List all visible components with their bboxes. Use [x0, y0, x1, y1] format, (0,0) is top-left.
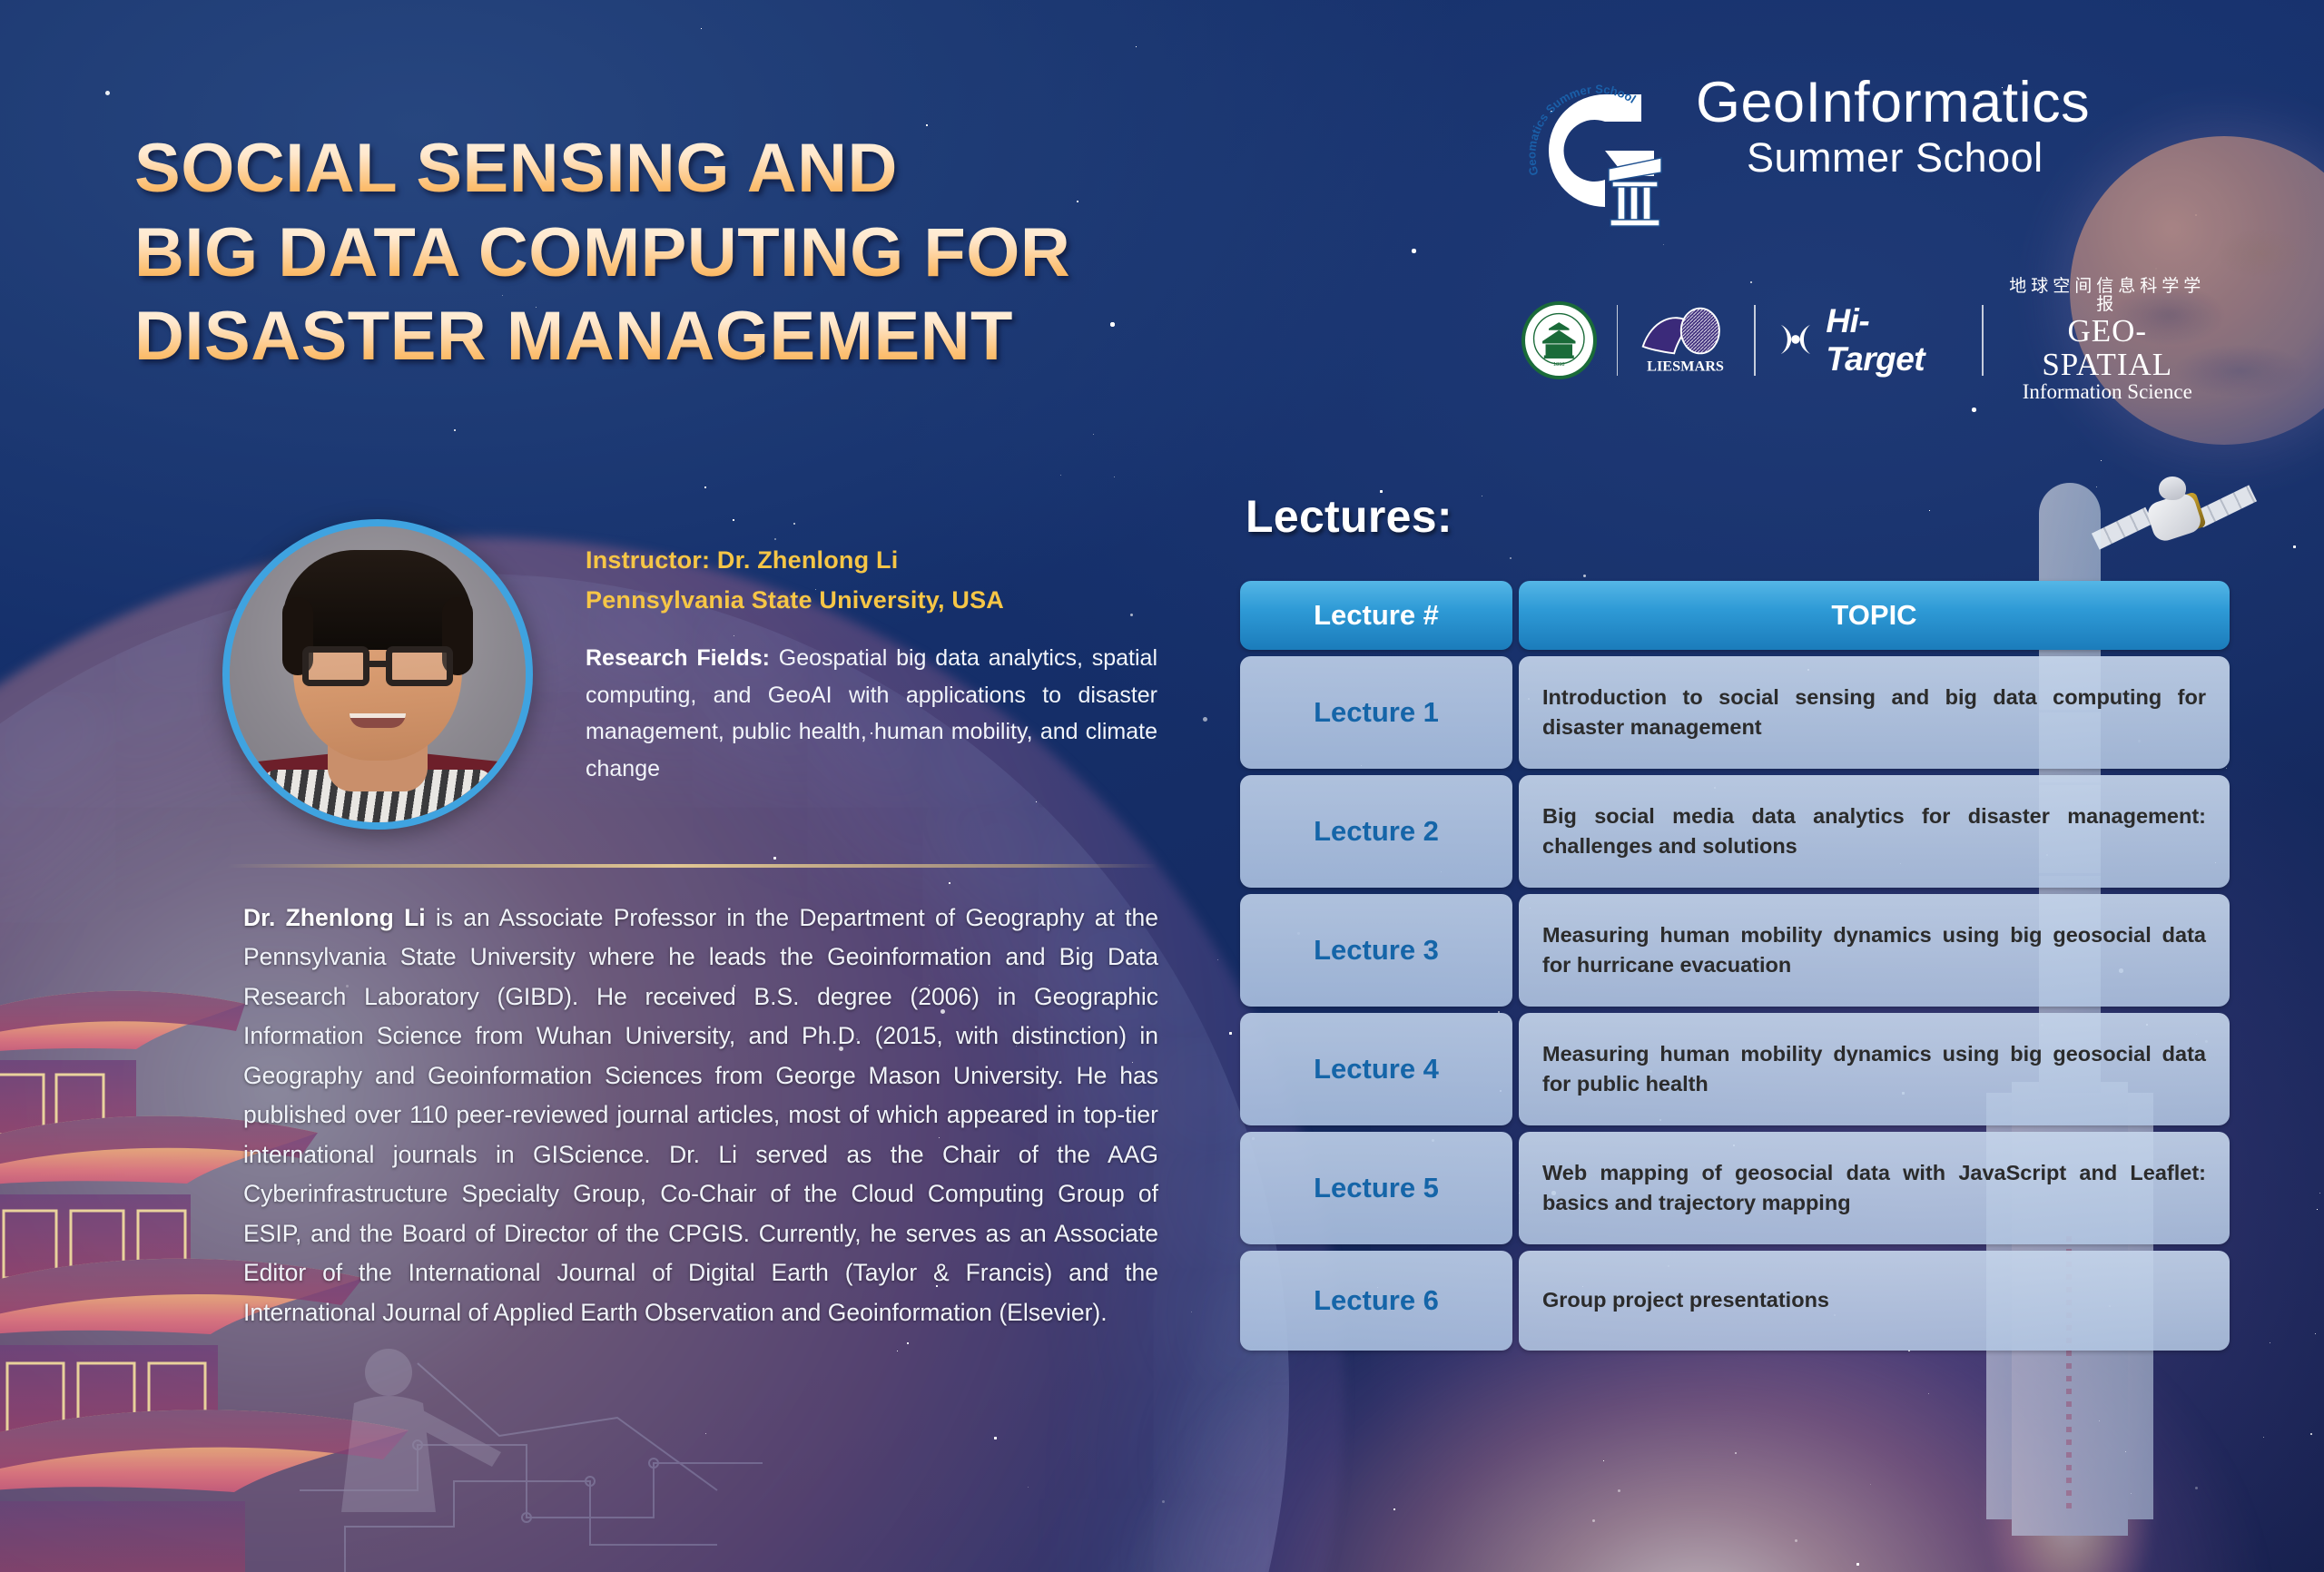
svg-text:1893: 1893 [1553, 362, 1565, 368]
instructor-name: Instructor: Dr. Zhenlong Li [586, 541, 1157, 581]
hi-target-logo: Hi-Target [1776, 302, 1962, 378]
sponsor-divider [1754, 305, 1756, 376]
lecture-number-cell: Lecture 6 [1240, 1251, 1512, 1351]
table-row[interactable]: Lecture 5 Web mapping of geosocial data … [1240, 1132, 2230, 1244]
lecture-topic-cell: Measuring human mobility dynamics using … [1519, 1013, 2230, 1125]
lecture-topic-cell: Big social media data analytics for disa… [1519, 775, 2230, 888]
hi-target-label: Hi-Target [1826, 302, 1961, 378]
research-fields: Research Fields: Geospatial big data ana… [586, 640, 1157, 787]
poster-title: SOCIAL SENSING AND BIG DATA COMPUTING FO… [134, 127, 1460, 379]
sponsor-divider [1617, 305, 1619, 376]
table-row[interactable]: Lecture 1 Introduction to social sensing… [1240, 656, 2230, 769]
gsis-label-line2: Information Science [2004, 381, 2211, 403]
instructor-info: Instructor: Dr. Zhenlong Li Pennsylvania… [586, 541, 1157, 787]
brand-name-line1: GeoInformatics [1696, 73, 2090, 133]
lecture-topic-cell: Web mapping of geosocial data with JavaS… [1519, 1132, 2230, 1244]
gsis-chinese-label: 地球空间信息科学学报 [2004, 278, 2211, 314]
bio-lead-name: Dr. Zhenlong Li [243, 904, 426, 931]
table-row[interactable]: Lecture 4 Measuring human mobility dynam… [1240, 1013, 2230, 1125]
hi-target-mark-icon [1776, 319, 1816, 361]
sponsor-divider [1982, 305, 1984, 376]
column-header-lecture-number: Lecture # [1240, 581, 1512, 650]
poster-canvas: SOCIAL SENSING AND BIG DATA COMPUTING FO… [0, 0, 2324, 1572]
table-row[interactable]: Lecture 3 Measuring human mobility dynam… [1240, 894, 2230, 1007]
research-fields-label: Research Fields: [586, 645, 770, 671]
table-header-row: Lecture # TOPIC [1240, 581, 2230, 650]
instructor-affiliation: Pennsylvania State University, USA [586, 581, 1157, 621]
lecture-number-cell: Lecture 4 [1240, 1013, 1512, 1125]
lecture-number-cell: Lecture 5 [1240, 1132, 1512, 1244]
bio-text: is an Associate Professor in the Departm… [243, 904, 1158, 1326]
svg-text:LIESMARS: LIESMARS [1648, 358, 1725, 374]
lecture-number-cell: Lecture 1 [1240, 656, 1512, 769]
lecture-topic-cell: Group project presentations [1519, 1251, 2230, 1351]
lecture-topic-cell: Introduction to social sensing and big d… [1519, 656, 2230, 769]
sponsor-logo-row: 1893 LIESMARS [1521, 292, 2211, 388]
geomatics-summer-school-mark-icon: Geomatics Summer School [1518, 74, 1678, 229]
lecture-number-cell: Lecture 2 [1240, 775, 1512, 888]
instructor-biography: Dr. Zhenlong Li is an Associate Professo… [243, 899, 1158, 1332]
table-row[interactable]: Lecture 6 Group project presentations [1240, 1251, 2230, 1351]
title-line-2: BIG DATA COMPUTING FOR [134, 211, 1460, 296]
instructor-portrait-avatar [222, 519, 533, 830]
table-row[interactable]: Lecture 2 Big social media data analytic… [1240, 775, 2230, 888]
brand-name-line2: Summer School [1696, 133, 2090, 183]
summer-school-logo: Geomatics Summer School GeoInformatics [1518, 71, 2208, 234]
lectures-heading: Lectures: [1246, 490, 1452, 543]
title-line-1: SOCIAL SENSING AND [134, 127, 1460, 211]
title-line-3: DISASTER MANAGEMENT [134, 295, 1460, 379]
lectures-table: Lecture # TOPIC Lecture 1 Introduction t… [1240, 581, 2230, 1357]
lecture-number-cell: Lecture 3 [1240, 894, 1512, 1007]
liesmars-logo-icon: LIESMARS [1638, 301, 1733, 379]
lecture-topic-cell: Measuring human mobility dynamics using … [1519, 894, 2230, 1007]
wuhan-university-logo-icon: 1893 [1521, 301, 1597, 379]
column-header-topic: TOPIC [1519, 581, 2230, 650]
gsis-label-line1: GEO-SPATIAL [2004, 315, 2211, 381]
geo-spatial-information-science-logo: 地球空间信息科学学报 GEO-SPATIAL Information Scien… [2004, 278, 2211, 403]
section-divider [227, 864, 1157, 868]
